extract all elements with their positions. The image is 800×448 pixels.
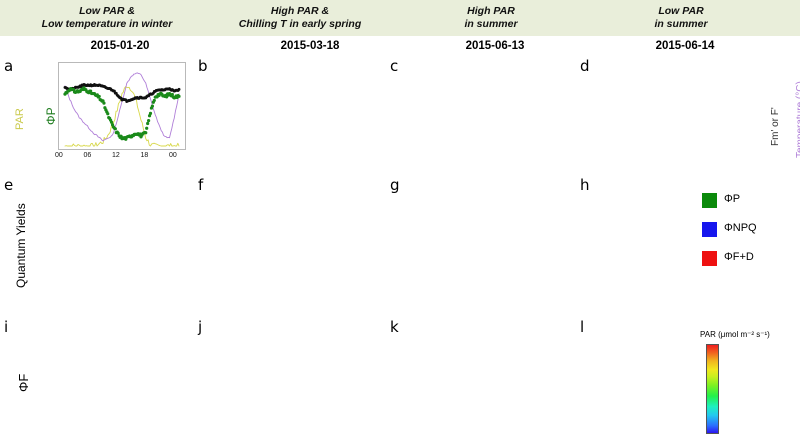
panel-letter-j: j (198, 318, 202, 336)
panel-letter-b: b (198, 57, 208, 75)
colorbar-gradient (706, 344, 719, 434)
panel-date-1: 2015-03-18 (245, 40, 375, 52)
phip-point (145, 127, 148, 130)
banner-line2: in summer (464, 18, 517, 31)
legend-swatch-phinpq (702, 222, 717, 237)
banner-cell-2: High PAR in summer (398, 2, 584, 34)
banner-cell-3: Low PAR in summer (588, 2, 774, 34)
banner-cell-1: High PAR & Chilling T in early spring (205, 2, 395, 34)
panel-date-0: 2015-01-20 (55, 40, 185, 52)
banner-line1: High PAR (467, 5, 515, 18)
legend-swatch-phip (702, 193, 717, 208)
fm-point (178, 88, 181, 91)
phip-point (146, 122, 149, 125)
phip-point (98, 95, 101, 98)
figure-root: Low PAR & Low temperature in winter High… (0, 0, 800, 448)
axis-tick: 00 (55, 152, 73, 159)
banner-line1: Low PAR & (79, 5, 135, 18)
axis-label-fm: Fm' or F' (770, 107, 781, 146)
axis-label-phip-a: ΦP (44, 107, 58, 125)
phip-point (149, 112, 152, 115)
banner-line2: Low temperature in winter (42, 18, 173, 31)
panel-letter-g: g (390, 176, 400, 194)
panel-date-2: 2015-06-13 (430, 40, 560, 52)
panel-letter-h: h (580, 176, 590, 194)
panel-letter-e: e (4, 176, 13, 194)
axis-tick: 00 (169, 152, 187, 159)
legend-label-phinpq: ΦNPQ (724, 222, 757, 234)
colorbar-title: PAR (μmol m⁻² s⁻¹) (700, 330, 770, 339)
panel-date-3: 2015-06-14 (620, 40, 750, 52)
phip-point (177, 95, 180, 98)
panel-letter-l: l (580, 318, 584, 336)
legend-swatch-phifd (702, 251, 717, 266)
legend-label-phifd: ΦF+D (724, 251, 754, 263)
panel-letter-k: k (390, 318, 399, 336)
axis-label-par: PAR (14, 108, 26, 130)
banner-line1: Low PAR (658, 5, 703, 18)
panel-letter-i: i (4, 318, 8, 336)
temperature-series (65, 73, 179, 141)
panel-letter-c: c (390, 57, 398, 75)
axis-label-quantum-yields: Quantum Yields (14, 203, 28, 288)
phip-point (147, 119, 150, 122)
panel-letter-a: a (4, 57, 13, 75)
panel-letter-d: d (580, 57, 590, 75)
legend-label-phip: ΦP (724, 193, 740, 205)
panel-letter-f: f (198, 176, 203, 194)
phip-point (144, 131, 147, 134)
banner-line2: in summer (654, 18, 707, 31)
banner-line1: High PAR & (271, 5, 329, 18)
phip-point (153, 99, 156, 102)
axis-label-phif: ΦF (16, 374, 31, 392)
banner-cell-0: Low PAR & Low temperature in winter (14, 2, 200, 34)
phip-point (102, 101, 105, 104)
condition-banner: Low PAR & Low temperature in winter High… (0, 0, 800, 36)
axis-label-temperature: Temperature (°C) (795, 81, 800, 158)
axis-tick: 18 (141, 152, 159, 159)
phip-point (106, 112, 109, 115)
axis-tick: 12 (112, 152, 130, 159)
timeseries-plot-a (58, 62, 186, 150)
axis-tick: 06 (84, 152, 102, 159)
phip-point (151, 104, 154, 107)
banner-line2: Chilling T in early spring (239, 18, 362, 31)
phip-point (114, 127, 117, 130)
